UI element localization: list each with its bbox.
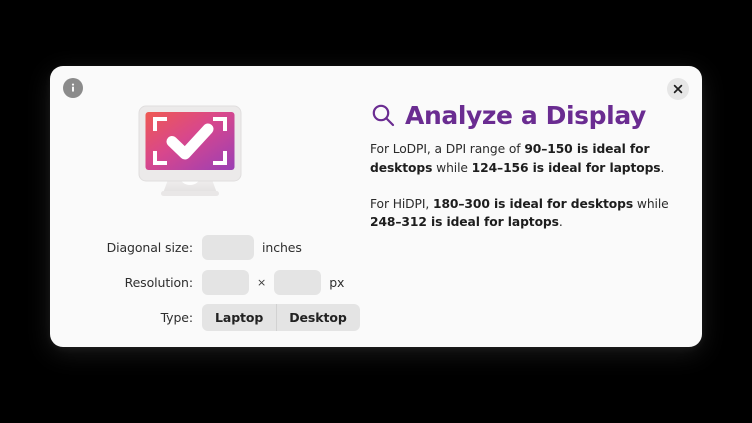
lodpi-text-1: For LoDPI, a DPI range of — [370, 142, 524, 156]
lodpi-description: For LoDPI, a DPI range of 90–150 is idea… — [370, 140, 678, 177]
type-row: Type: Laptop Desktop — [50, 300, 370, 334]
screen-root: Diagonal size: inches Resolution: × px T… — [0, 0, 752, 423]
resolution-height-input[interactable] — [274, 270, 321, 295]
info-panel-heading: Analyze a Display — [370, 102, 690, 128]
resolution-width-input[interactable] — [202, 270, 249, 295]
hidpi-bold-1: 180–300 is ideal for desktops — [433, 197, 633, 211]
display-form: Diagonal size: inches Resolution: × px T… — [50, 230, 370, 335]
hidpi-text-3: . — [559, 215, 563, 229]
resolution-row: Resolution: × px — [50, 265, 370, 299]
diagonal-size-label: Diagonal size: — [50, 240, 202, 255]
diagonal-size-row: Diagonal size: inches — [50, 230, 370, 264]
type-option-laptop[interactable]: Laptop — [202, 304, 276, 331]
page-title: Analyze a Display — [405, 103, 646, 128]
search-icon — [370, 102, 396, 128]
left-column: Diagonal size: inches Resolution: × px T… — [50, 66, 370, 347]
lodpi-text-3: . — [661, 161, 665, 175]
close-icon — [673, 84, 683, 94]
hidpi-text-2: while — [633, 197, 669, 211]
diagonal-size-input[interactable] — [202, 235, 254, 260]
analyze-display-dialog: Diagonal size: inches Resolution: × px T… — [50, 66, 702, 347]
close-button[interactable] — [667, 78, 689, 100]
type-option-desktop[interactable]: Desktop — [276, 304, 359, 331]
hidpi-description: For HiDPI, 180–300 is ideal for desktops… — [370, 195, 678, 232]
info-panel: Analyze a Display For LoDPI, a DPI range… — [370, 102, 690, 244]
diagonal-size-unit: inches — [262, 240, 302, 255]
lodpi-text-2: while — [432, 161, 471, 175]
type-label: Type: — [50, 310, 202, 325]
resolution-unit: px — [329, 275, 344, 290]
lodpi-bold-2: 124–156 is ideal for laptops — [472, 161, 661, 175]
hidpi-text-1: For HiDPI, — [370, 197, 433, 211]
hidpi-bold-2: 248–312 is ideal for laptops — [370, 215, 559, 229]
display-check-monitor-icon — [136, 105, 244, 202]
resolution-separator: × — [257, 276, 266, 289]
type-segmented-control[interactable]: Laptop Desktop — [202, 304, 360, 331]
resolution-label: Resolution: — [50, 275, 202, 290]
